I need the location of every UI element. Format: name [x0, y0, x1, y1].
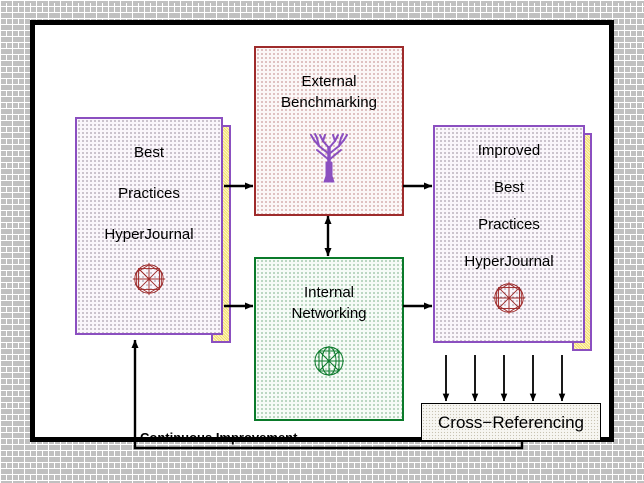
node-external-benchmarking[interactable]: External Benchmarking — [254, 46, 404, 216]
globe-network-icon — [309, 341, 349, 381]
diagram-frame: Best Practices HyperJournal — [30, 20, 614, 442]
node-label-cross-referencing: Cross−Referencing — [438, 414, 584, 431]
label-continuous-improvement: Continuous Improvement — [140, 430, 297, 445]
node-label-external-line-2: Benchmarking — [256, 95, 402, 110]
node-improved-best-practices-hyperjournal[interactable]: Improved Best Practices HyperJournal — [433, 125, 585, 343]
node-label-best-practices-line-1: Best — [77, 145, 221, 160]
node-label-improved-line-3: Practices — [435, 217, 583, 232]
node-cross-referencing[interactable]: Cross−Referencing — [421, 403, 601, 441]
node-label-best-practices-line-3: HyperJournal — [77, 227, 221, 242]
web-network-icon — [130, 260, 168, 298]
node-label-external-line-1: External — [256, 74, 402, 89]
tree-icon — [306, 132, 352, 184]
node-best-practices-hyperjournal[interactable]: Best Practices HyperJournal — [75, 117, 223, 335]
diagram-stage: Best Practices HyperJournal — [35, 25, 609, 437]
web-network-icon — [490, 279, 528, 317]
node-label-best-practices-line-2: Practices — [77, 186, 221, 201]
node-label-internal-line-1: Internal — [256, 285, 402, 300]
edge-improved-to-cross-referencing — [446, 355, 562, 401]
node-label-improved-line-4: HyperJournal — [435, 254, 583, 269]
node-label-improved-line-2: Best — [435, 180, 583, 195]
diagram-background: Best Practices HyperJournal — [0, 0, 644, 483]
node-label-internal-line-2: Networking — [256, 306, 402, 321]
node-internal-networking[interactable]: Internal Networking — [254, 257, 404, 421]
node-label-improved-line-1: Improved — [435, 143, 583, 158]
